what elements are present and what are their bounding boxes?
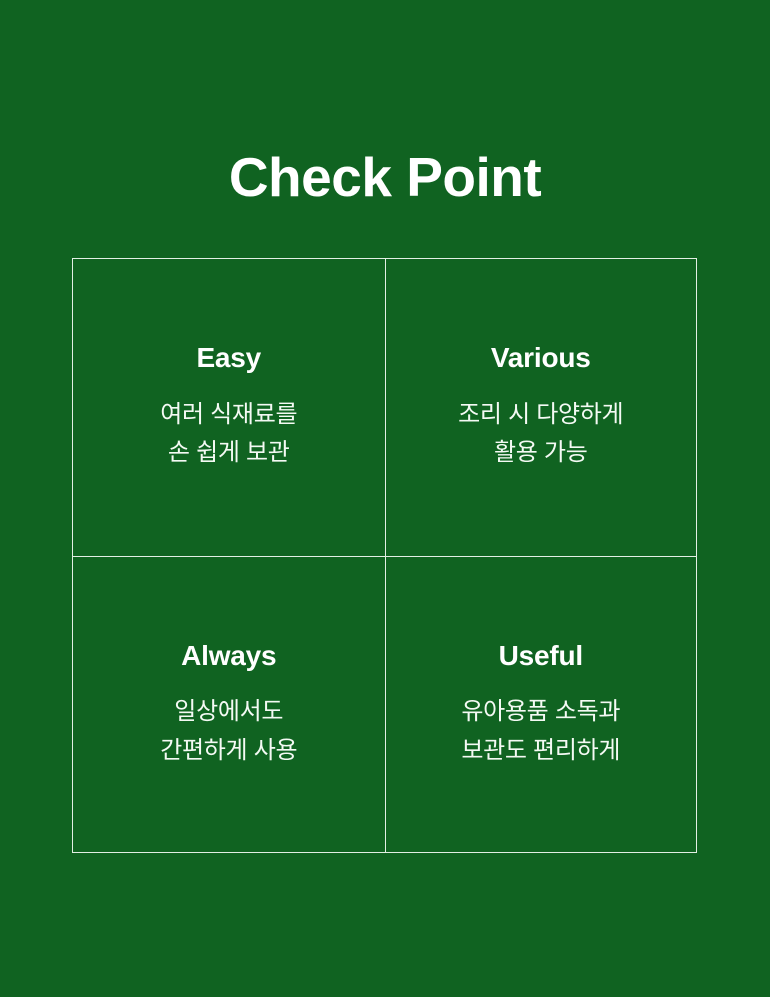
cell-body-line: 조리 시 다양하게 <box>458 396 623 435</box>
cell-body-line: 보관도 편리하게 <box>461 732 620 771</box>
cell-body-line: 간편하게 사용 <box>160 732 297 771</box>
cell-body: 조리 시 다양하게 활용 가능 <box>458 396 623 474</box>
cell-body-line: 일상에서도 <box>160 693 297 732</box>
grid-cell-always: Always 일상에서도 간편하게 사용 <box>73 556 385 853</box>
cell-body-line: 활용 가능 <box>458 434 623 473</box>
cell-body-line: 손 쉽게 보관 <box>160 434 297 473</box>
cell-heading: Useful <box>499 639 583 673</box>
grid-cell-useful: Useful 유아용품 소독과 보관도 편리하게 <box>385 556 697 853</box>
cell-body: 유아용품 소독과 보관도 편리하게 <box>461 693 620 771</box>
grid-cell-easy: Easy 여러 식재료를 손 쉽게 보관 <box>73 259 385 556</box>
cell-body-line: 유아용품 소독과 <box>461 693 620 732</box>
grid-cell-various: Various 조리 시 다양하게 활용 가능 <box>385 259 697 556</box>
cell-heading: Easy <box>196 341 261 375</box>
cell-body: 여러 식재료를 손 쉽게 보관 <box>160 396 297 474</box>
cell-body: 일상에서도 간편하게 사용 <box>160 693 297 771</box>
cell-body-line: 여러 식재료를 <box>160 396 297 435</box>
check-point-grid: Easy 여러 식재료를 손 쉽게 보관 Various 조리 시 다양하게 활… <box>72 258 697 853</box>
cell-heading: Various <box>491 341 591 375</box>
cell-heading: Always <box>181 639 276 673</box>
check-point-poster: Check Point Easy 여러 식재료를 손 쉽게 보관 Various… <box>0 0 770 997</box>
page-title: Check Point <box>0 147 770 208</box>
